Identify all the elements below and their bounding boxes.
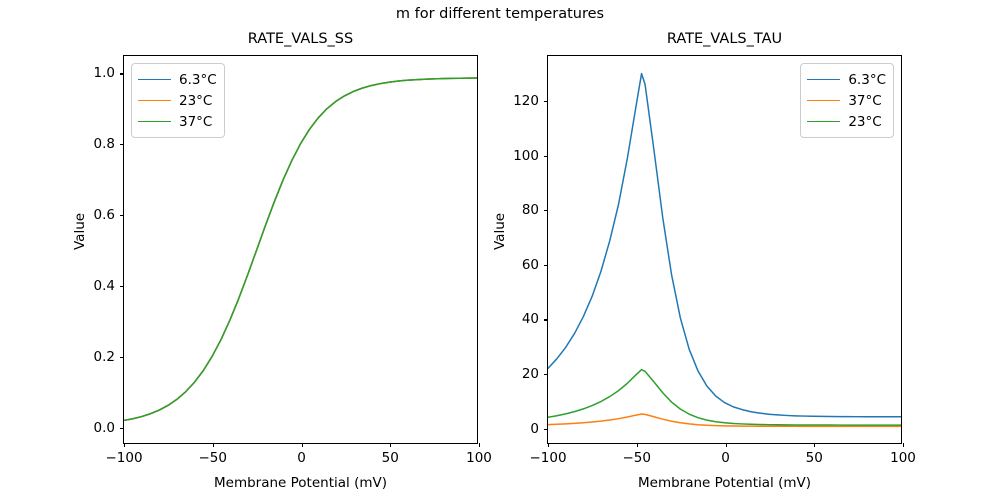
xlabel-left: Membrane Potential (mV) [124,475,477,491]
ytick-label: 80 [522,202,539,218]
xtick-mark [479,443,480,447]
xtick-label: 100 [466,450,492,466]
ytick-mark [544,210,548,211]
ytick-mark [544,319,548,320]
ytick-mark [544,156,548,157]
ytick-mark [544,101,548,102]
legend-entry: 23°C [807,111,886,132]
xtick-mark [903,443,904,447]
legend-label: 23°C [848,114,881,130]
legend-entry: 6.3°C [807,69,886,90]
legend-swatch-line [138,100,171,101]
ytick-label: 0.2 [94,349,115,365]
xtick-label: −100 [105,450,142,466]
legend-swatch-line [807,121,840,122]
ytick-label: 20 [522,366,539,382]
xtick-mark [302,443,303,447]
subplot-title-left: RATE_VALS_SS [124,31,477,47]
legend-label: 23°C [179,93,212,109]
xtick-label: 0 [297,450,306,466]
ytick-mark [120,144,124,145]
xtick-label: 50 [382,450,399,466]
ytick-label: 1.0 [94,65,115,81]
ytick-label: 60 [522,257,539,273]
ytick-mark [120,286,124,287]
legend-swatch-line [807,100,840,101]
legend-right: 6.3°C37°C23°C [800,63,894,138]
ytick-label: 40 [522,311,539,327]
ylabel-left: Value [72,212,88,249]
ytick-label: 0.0 [94,420,115,436]
xtick-mark [124,443,125,447]
ytick-mark [120,428,124,429]
legend-label: 37°C [179,114,212,130]
ytick-mark [120,215,124,216]
xtick-label: −50 [623,450,652,466]
xtick-label: 50 [806,450,823,466]
xtick-label: −50 [199,450,228,466]
legend-entry: 37°C [807,90,886,111]
legend-label: 37°C [848,93,881,109]
ytick-label: 100 [513,148,539,164]
xtick-mark [213,443,214,447]
legend-label: 6.3°C [848,72,886,88]
ytick-label: 0.6 [94,207,115,223]
ytick-label: 0.8 [94,136,115,152]
subplot-title-right: RATE_VALS_TAU [548,31,901,47]
xlabel-right: Membrane Potential (mV) [548,475,901,491]
xtick-mark [390,443,391,447]
axes-rate-vals-ss: RATE_VALS_SS −100−500501000.00.20.40.60.… [123,55,478,444]
figure-suptitle: m for different temperatures [0,6,1000,22]
legend-left: 6.3°C23°C37°C [131,63,225,138]
ytick-mark [544,429,548,430]
ytick-label: 0 [530,421,539,437]
xtick-label: 100 [890,450,916,466]
axes-rate-vals-tau: RATE_VALS_TAU −100−500501000204060801001… [547,55,902,444]
xtick-mark [637,443,638,447]
legend-label: 6.3°C [179,72,217,88]
ytick-mark [544,374,548,375]
xtick-label: −100 [529,450,566,466]
xtick-mark [726,443,727,447]
xtick-label: 0 [721,450,730,466]
ylabel-right: Value [492,212,508,249]
ytick-mark [120,357,124,358]
xtick-mark [548,443,549,447]
legend-entry: 37°C [138,111,217,132]
legend-entry: 6.3°C [138,69,217,90]
ytick-mark [544,265,548,266]
matplotlib-figure: m for different temperatures RATE_VALS_S… [0,0,1000,500]
legend-swatch-line [138,121,171,122]
legend-swatch-line [807,79,840,80]
ytick-label: 120 [513,93,539,109]
legend-entry: 23°C [138,90,217,111]
ytick-mark [120,73,124,74]
xtick-mark [814,443,815,447]
ytick-label: 0.4 [94,278,115,294]
legend-swatch-line [138,79,171,80]
